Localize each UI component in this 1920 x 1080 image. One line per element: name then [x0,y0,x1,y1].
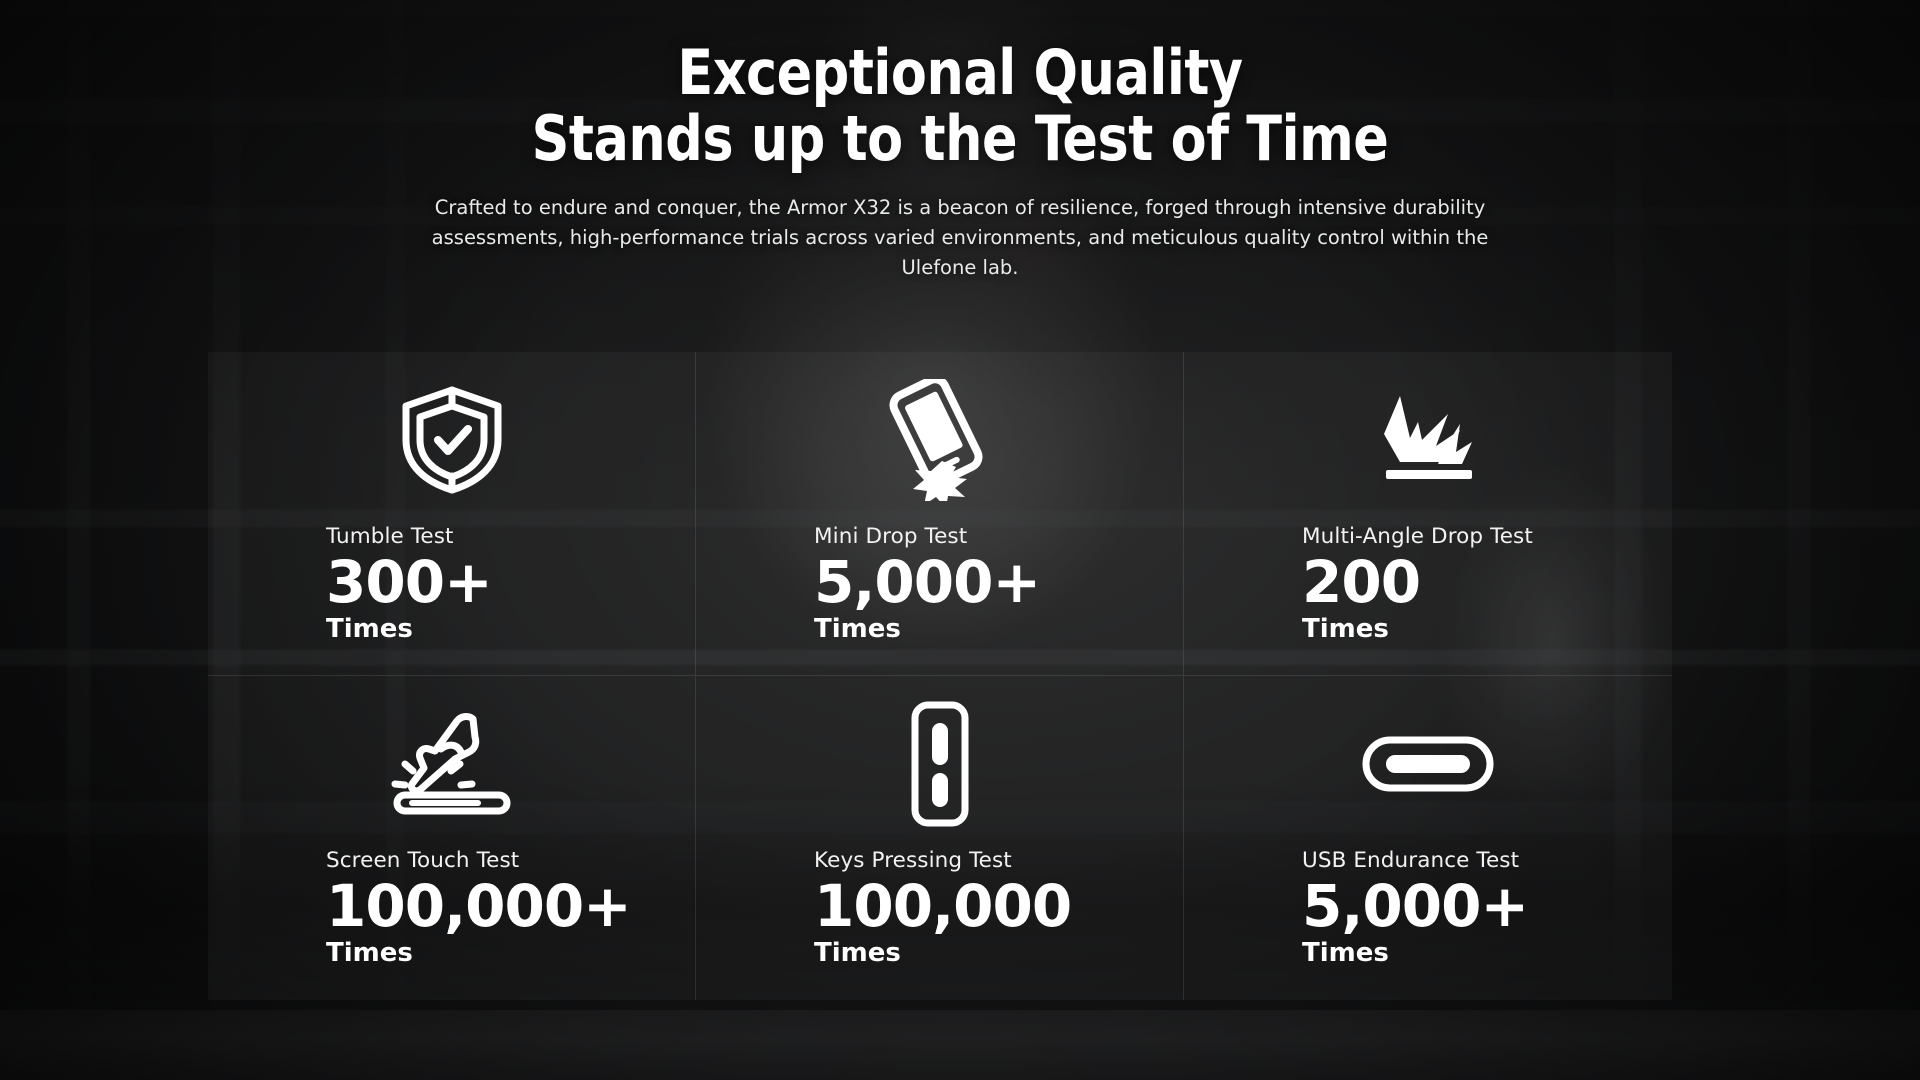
stat-card-label: USB Endurance Test [1302,848,1672,873]
stat-card-label: Mini Drop Test [814,524,1183,549]
stat-card-unit: Times [814,614,1183,644]
stat-card-value: 300+ [326,553,695,612]
stat-card-label: Tumble Test [326,524,695,549]
usb-c-port-icon [1302,698,1554,830]
stat-card-value: 5,000+ [1302,877,1672,936]
page-title-line-1: Exceptional Quality [677,36,1242,109]
stat-card-screen-touch-test: Screen Touch Test 100,000+ Times [208,676,696,1000]
stat-card-value: 200 [1302,553,1672,612]
stat-card-label: Multi-Angle Drop Test [1302,524,1672,549]
page-subtitle: Crafted to endure and conquer, the Armor… [420,193,1500,283]
stat-card-multi-angle-drop-test: Multi-Angle Drop Test 200 Times [1184,352,1672,676]
stat-card-unit: Times [1302,614,1672,644]
promo-page: Exceptional Quality Stands up to the Tes… [0,0,1920,1080]
phone-drop-impact-icon [814,374,1065,506]
stat-card-unit: Times [1302,938,1672,968]
stat-card-keys-pressing-test: Keys Pressing Test 100,000 Times [696,676,1184,1000]
stat-card-unit: Times [814,938,1183,968]
stat-card-label: Keys Pressing Test [814,848,1183,873]
stat-card-value: 100,000+ [326,877,695,936]
stat-card-label: Screen Touch Test [326,848,695,873]
stat-card-value: 5,000+ [814,553,1183,612]
shield-check-icon [326,374,577,506]
stat-card-tumble-test: Tumble Test 300+ Times [208,352,696,676]
side-keys-icon [814,698,1065,830]
stat-card-mini-drop-test: Mini Drop Test 5,000+ Times [696,352,1184,676]
page-title: Exceptional Quality Stands up to the Tes… [58,0,1863,171]
page-title-line-2: Stands up to the Test of Time [58,106,1863,172]
hand-tap-screen-icon [326,698,577,830]
stat-card-unit: Times [326,614,695,644]
shatter-burst-icon [1302,374,1554,506]
stat-card-unit: Times [326,938,695,968]
test-stats-grid: Tumble Test 300+ Times Mini Dr [208,352,1672,1000]
stat-card-value: 100,000 [814,877,1183,936]
stat-card-usb-endurance-test: USB Endurance Test 5,000+ Times [1184,676,1672,1000]
